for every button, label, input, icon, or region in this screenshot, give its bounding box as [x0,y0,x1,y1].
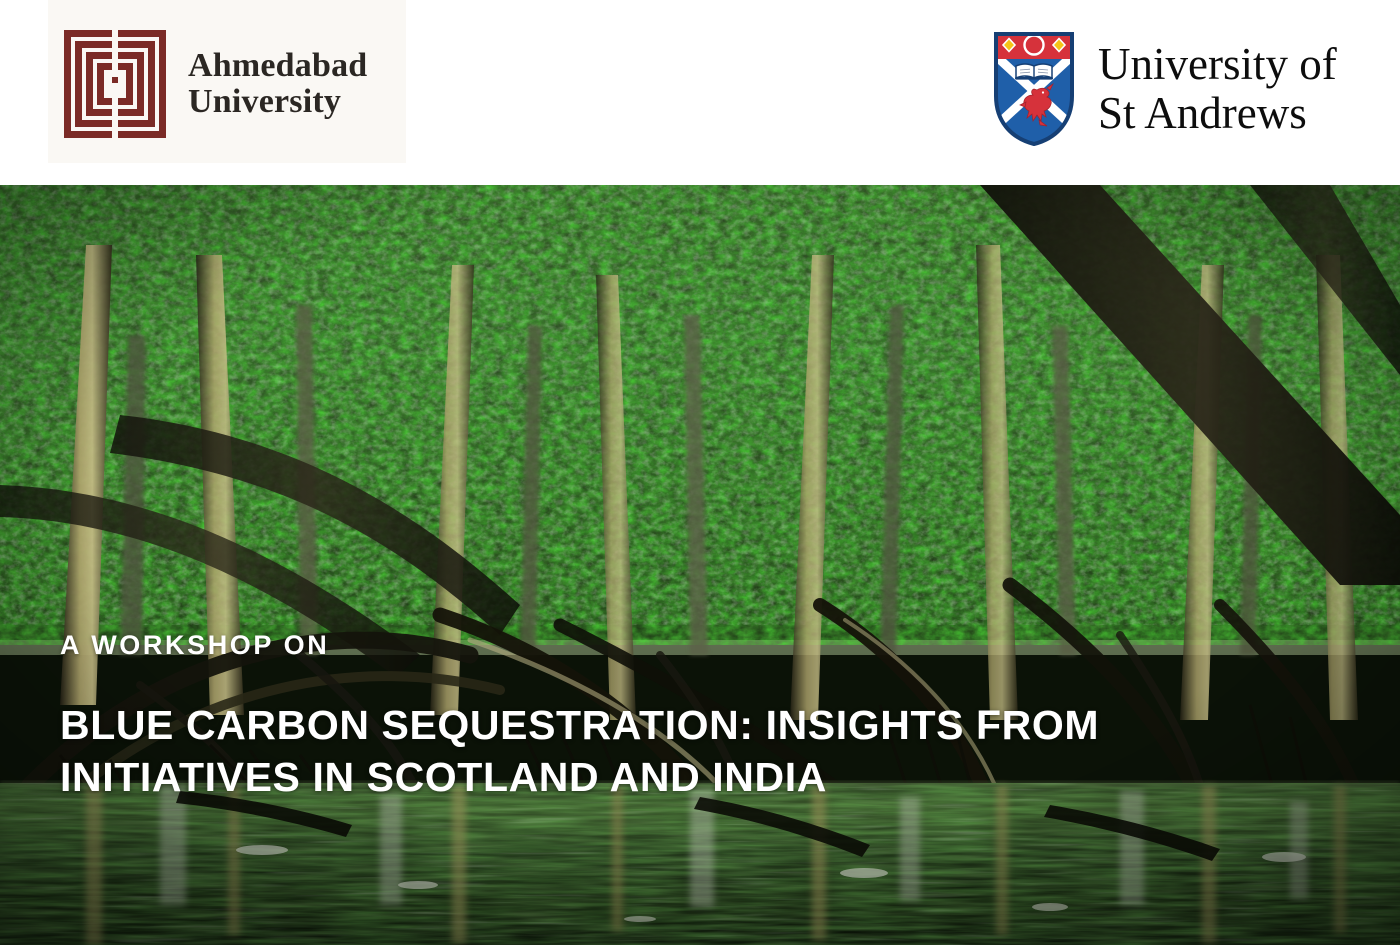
nested-squares-icon [62,28,168,140]
ahmedabad-wordmark-line1: Ahmedabad [188,47,367,84]
st-andrews-wordmark: University of St Andrews [1098,40,1337,137]
st-andrews-wordmark-line2: St Andrews [1098,89,1337,138]
st-andrews-logo: University of St Andrews [992,30,1337,148]
st-andrews-wordmark-line1: University of [1098,39,1337,89]
header-band: Ahmedabad University [0,0,1400,185]
hero-banner: A Workshop On Blue Carbon Sequestration:… [0,185,1400,945]
workshop-eyebrow: A Workshop On [60,630,1360,661]
workshop-title: Blue Carbon Sequestration: Insights From… [60,699,1350,804]
hero-text-block: A Workshop On Blue Carbon Sequestration:… [60,630,1360,804]
st-andrews-shield-icon [992,30,1076,148]
ahmedabad-wordmark-line2: University [188,84,367,120]
mangrove-forest-photo [0,185,1400,945]
ahmedabad-wordmark: Ahmedabad University [188,48,367,119]
ahmedabad-university-logo: Ahmedabad University [62,28,367,140]
poster-root: Ahmedabad University [0,0,1400,945]
